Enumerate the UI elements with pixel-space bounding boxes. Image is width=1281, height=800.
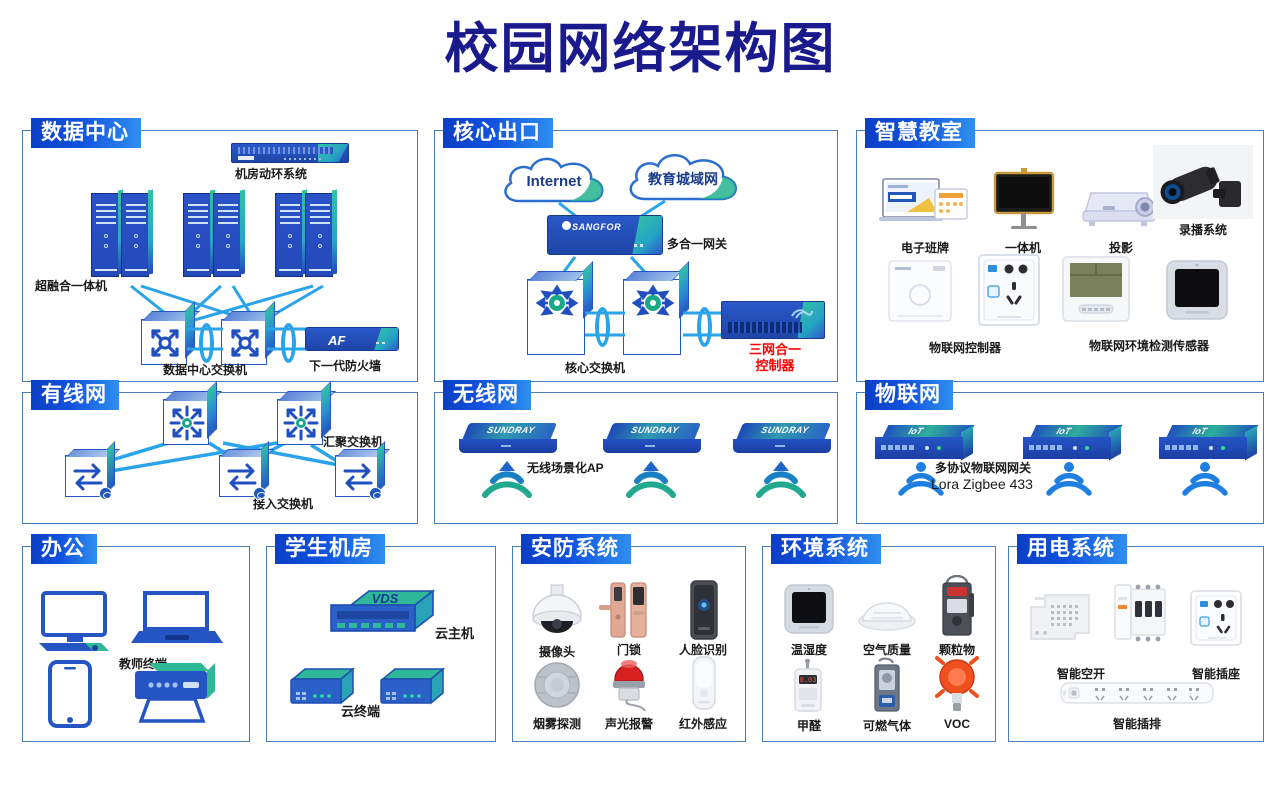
label-controller-line2: 控制器 — [727, 359, 823, 373]
iot-gateway-icon: IoT — [1159, 425, 1259, 461]
caption-temp-humidity: 温湿度 — [771, 641, 847, 658]
label-aggregation-switch: 汇聚交换机 — [323, 435, 383, 449]
stack-link-ring — [595, 307, 610, 347]
combustible-gas-detector-icon: 可燃气体 — [849, 655, 925, 731]
hci-server-icon — [91, 193, 119, 277]
air-quality-sensor-icon: 空气质量 — [849, 587, 925, 659]
panel-data-center: 数据中心 机房动环系统 — [22, 130, 418, 382]
panel-smart-classroom-body: 电子班牌 一体机 — [857, 131, 1263, 381]
core-switch-arrows-icon — [532, 283, 582, 349]
smoke-detector-icon: 烟雾探测 — [521, 659, 593, 731]
data-center-switch-icon — [141, 319, 187, 365]
stack-link-ring — [697, 307, 712, 347]
panel-iot-network-body: IoT 多协议物联网网关 Lora Zigbee 433 IoT — [857, 393, 1263, 523]
panel-smart-classroom-header: 智慧教室 — [865, 118, 975, 148]
iot-signal-icon — [1043, 461, 1099, 503]
core-switch-arrows-icon — [628, 283, 678, 349]
core-switch-icon — [623, 279, 681, 355]
ap-brand-label: SUNDRAY — [478, 425, 545, 435]
cloud-terminal-icon — [289, 665, 357, 707]
education-man-cloud-icon: 教育城域网 — [621, 149, 745, 207]
access-switch-icon — [335, 455, 379, 497]
label-cloud-host: 云主机 — [435, 627, 474, 641]
panel-wired-network-header: 有线网 — [31, 380, 119, 410]
label-controller-line1: 三网合一 — [727, 343, 823, 357]
caption-formaldehyde: 甲醛 — [771, 717, 847, 734]
globe-badge-icon — [99, 487, 112, 500]
panel-office-header: 办公 — [31, 534, 97, 564]
hci-server-group — [275, 193, 335, 277]
hci-server-icon — [213, 193, 241, 277]
smart-socket-icon — [969, 249, 1049, 341]
panel-wired-network-body: 汇聚交换机 — [23, 393, 417, 523]
label-iot-gateway-line1: 多协议物联网网关 — [935, 461, 1031, 475]
env-sensor-screen-icon — [1157, 255, 1237, 341]
label-dc-switch: 数据中心交换机 — [163, 363, 247, 377]
printer-icon — [127, 659, 219, 723]
infrared-sensor-icon: 红外感应 — [667, 653, 739, 731]
smart-circuit-breaker-icon: 智能空开 — [1027, 589, 1107, 663]
formaldehyde-detector-icon: 0.03 甲醛 — [771, 659, 847, 731]
wifi-signal-icon — [623, 457, 679, 499]
desktop-monitor-icon — [37, 591, 123, 653]
caption-power-strip: 智能插排 — [1055, 715, 1219, 732]
panel-core-exit-body: Internet 教育城域网 — [435, 131, 837, 381]
label-firewall: 下一代防火墙 — [309, 359, 381, 373]
env-monitor-appliance-icon — [231, 143, 349, 163]
panel-environment-system-header: 环境系统 — [771, 534, 881, 564]
iot-gateway-icon: IoT — [875, 425, 975, 461]
panel-wireless-network: 无线网 SUNDRAY 无线场景化AP SUNDRA — [434, 392, 838, 524]
cloud-host-icon: VDS — [329, 589, 435, 637]
globe-badge-icon — [253, 487, 266, 500]
env-sensor-panel-icon: 物联网环境检测传感器 — [1053, 251, 1141, 345]
switch-arrows-icon — [226, 324, 264, 362]
ap-brand-label: SUNDRAY — [752, 425, 819, 435]
data-center-switch-icon — [221, 319, 267, 365]
sound-light-alarm-icon: 声光报警 — [597, 653, 661, 731]
label-cloud-terminal: 云终端 — [341, 705, 380, 719]
panel-student-lab: 学生机房 VDS 云主机 — [266, 546, 496, 742]
panel-security-system: 安防系统 摄像头 — [512, 546, 746, 742]
iot-signal-icon — [1179, 461, 1235, 503]
internet-cloud-icon: Internet — [497, 153, 611, 209]
agg-switch-arrows-icon — [282, 404, 320, 442]
caption-infrared-sensor: 红外感应 — [667, 715, 739, 732]
panel-wired-network: 有线网 — [22, 392, 418, 524]
wireless-ap-icon: SUNDRAY — [457, 423, 561, 457]
caption-smoke-detector: 烟雾探测 — [521, 715, 593, 732]
gateway-brand-label: SANGFOR — [572, 222, 621, 232]
caption-iot-controller: 物联网控制器 — [877, 339, 1053, 356]
panel-power-system-header: 用电系统 — [1017, 534, 1127, 564]
panel-iot-network-header: 物联网 — [865, 380, 953, 410]
page-title: 校园网络架构图 — [0, 18, 1281, 80]
caption-combustible-gas: 可燃气体 — [849, 717, 925, 734]
stack-link-ring — [281, 323, 296, 363]
panel-data-center-header: 数据中心 — [31, 118, 141, 148]
hci-server-group — [183, 193, 243, 277]
panel-security-system-body: 摄像头 门锁 — [513, 547, 745, 741]
caption-sound-light-alarm: 声光报警 — [597, 715, 661, 732]
svg-text:0.03: 0.03 — [800, 677, 817, 685]
hci-server-icon — [121, 193, 149, 277]
firewall-brand-label: AF — [328, 333, 345, 348]
internet-cloud-label: Internet — [497, 173, 611, 190]
panel-wireless-network-body: SUNDRAY 无线场景化AP SUNDRAY — [435, 393, 837, 523]
temperature-humidity-sensor-icon: 温湿度 — [771, 581, 847, 659]
caption-camera: 摄像头 — [521, 643, 593, 660]
stack-link-ring — [199, 323, 214, 363]
panel-core-exit-header: 核心出口 — [443, 118, 553, 148]
smart-door-lock-icon: 门锁 — [597, 579, 661, 659]
ap-brand-label: SUNDRAY — [622, 425, 689, 435]
aggregation-switch-icon — [163, 399, 209, 445]
hci-server-icon — [305, 193, 333, 277]
hci-server-icon — [183, 193, 211, 277]
panel-office: 办公 教师终端 — [22, 546, 250, 742]
switch-arrows-icon — [146, 324, 184, 362]
laptop-icon — [129, 589, 225, 647]
access-switch-icon — [219, 455, 263, 497]
three-in-one-controller-icon — [721, 301, 825, 339]
interactive-flat-panel-icon: 一体机 — [975, 167, 1071, 241]
label-gateway: 多合一网关 — [667, 237, 727, 251]
label-core-switch: 核心交换机 — [565, 361, 625, 375]
wifi-signal-icon — [753, 457, 809, 499]
recording-camera-icon: 录播系统 — [1153, 145, 1253, 241]
iot-controller-icon: 物联网控制器 — [877, 253, 965, 349]
panel-wireless-network-header: 无线网 — [443, 380, 531, 410]
education-man-cloud-label: 教育城域网 — [621, 169, 745, 189]
access-switch-icon — [65, 455, 109, 497]
cloud-terminal-icon — [379, 665, 447, 707]
svg-text:VDS: VDS — [372, 591, 399, 606]
caption-voc: VOC — [923, 717, 991, 731]
iot-gateway-icon: IoT — [1023, 425, 1123, 461]
dome-camera-icon: 摄像头 — [521, 583, 593, 659]
core-switch-icon — [527, 279, 585, 355]
hci-server-group — [91, 193, 151, 277]
globe-badge-icon — [369, 487, 382, 500]
caption-recording-system: 录播系统 — [1153, 221, 1253, 238]
smart-power-strip-icon: 智能插排 — [1055, 677, 1219, 733]
panel-student-lab-header: 学生机房 — [275, 534, 385, 564]
label-env-system: 机房动环系统 — [235, 167, 307, 181]
panel-iot-network: 物联网 IoT 多协议物联网网关 Lora Zigbee 433 — [856, 392, 1264, 524]
panel-office-body: 教师终端 — [23, 547, 249, 741]
label-iot-protocols: Lora Zigbee 433 — [931, 477, 1033, 491]
panel-environment-system: 环境系统 温湿度 空气质 — [762, 546, 996, 742]
wireless-ap-icon: SUNDRAY — [601, 423, 705, 457]
next-gen-firewall-icon: AF — [305, 327, 399, 351]
smartphone-icon — [47, 659, 93, 729]
agg-switch-arrows-icon — [168, 404, 206, 442]
smart-socket-icon: 智能插座 — [1181, 587, 1251, 665]
voc-detector-icon: VOC — [923, 655, 991, 731]
aggregation-switch-icon — [277, 399, 323, 445]
label-hci: 超融合一体机 — [35, 279, 107, 293]
controller-logo-icon — [790, 307, 814, 319]
panel-security-system-header: 安防系统 — [521, 534, 631, 564]
diagram-root: 校园网络架构图 数据中心 机房动环系统 — [0, 0, 1281, 800]
panel-core-exit: 核心出口 Internet 教育城域网 — [434, 130, 838, 382]
face-recognition-terminal-icon: 人脸识别 — [667, 579, 739, 659]
smart-circuit-breaker-toggle-icon — [1105, 579, 1175, 663]
exchange-arrows-icon — [225, 462, 259, 492]
electronic-class-board-icon: 电子班牌 — [877, 171, 973, 241]
panel-environment-system-body: 温湿度 空气质量 — [763, 547, 995, 741]
panel-power-system-body: 智能空开 — [1009, 547, 1263, 741]
exchange-arrows-icon — [71, 462, 105, 492]
label-wireless-ap: 无线场景化AP — [527, 461, 604, 475]
wireless-ap-icon: SUNDRAY — [731, 423, 835, 457]
panel-power-system: 用电系统 — [1008, 546, 1264, 742]
panel-data-center-body: 机房动环系统 — [23, 131, 417, 381]
exchange-arrows-icon — [341, 462, 375, 492]
panel-smart-classroom: 智慧教室 电子 — [856, 130, 1264, 382]
particulate-matter-detector-icon: 颗粒物 — [923, 575, 991, 659]
panel-student-lab-body: VDS 云主机 — [267, 547, 495, 741]
hci-server-icon — [275, 193, 303, 277]
all-in-one-gateway-icon: SANGFOR — [547, 215, 663, 255]
